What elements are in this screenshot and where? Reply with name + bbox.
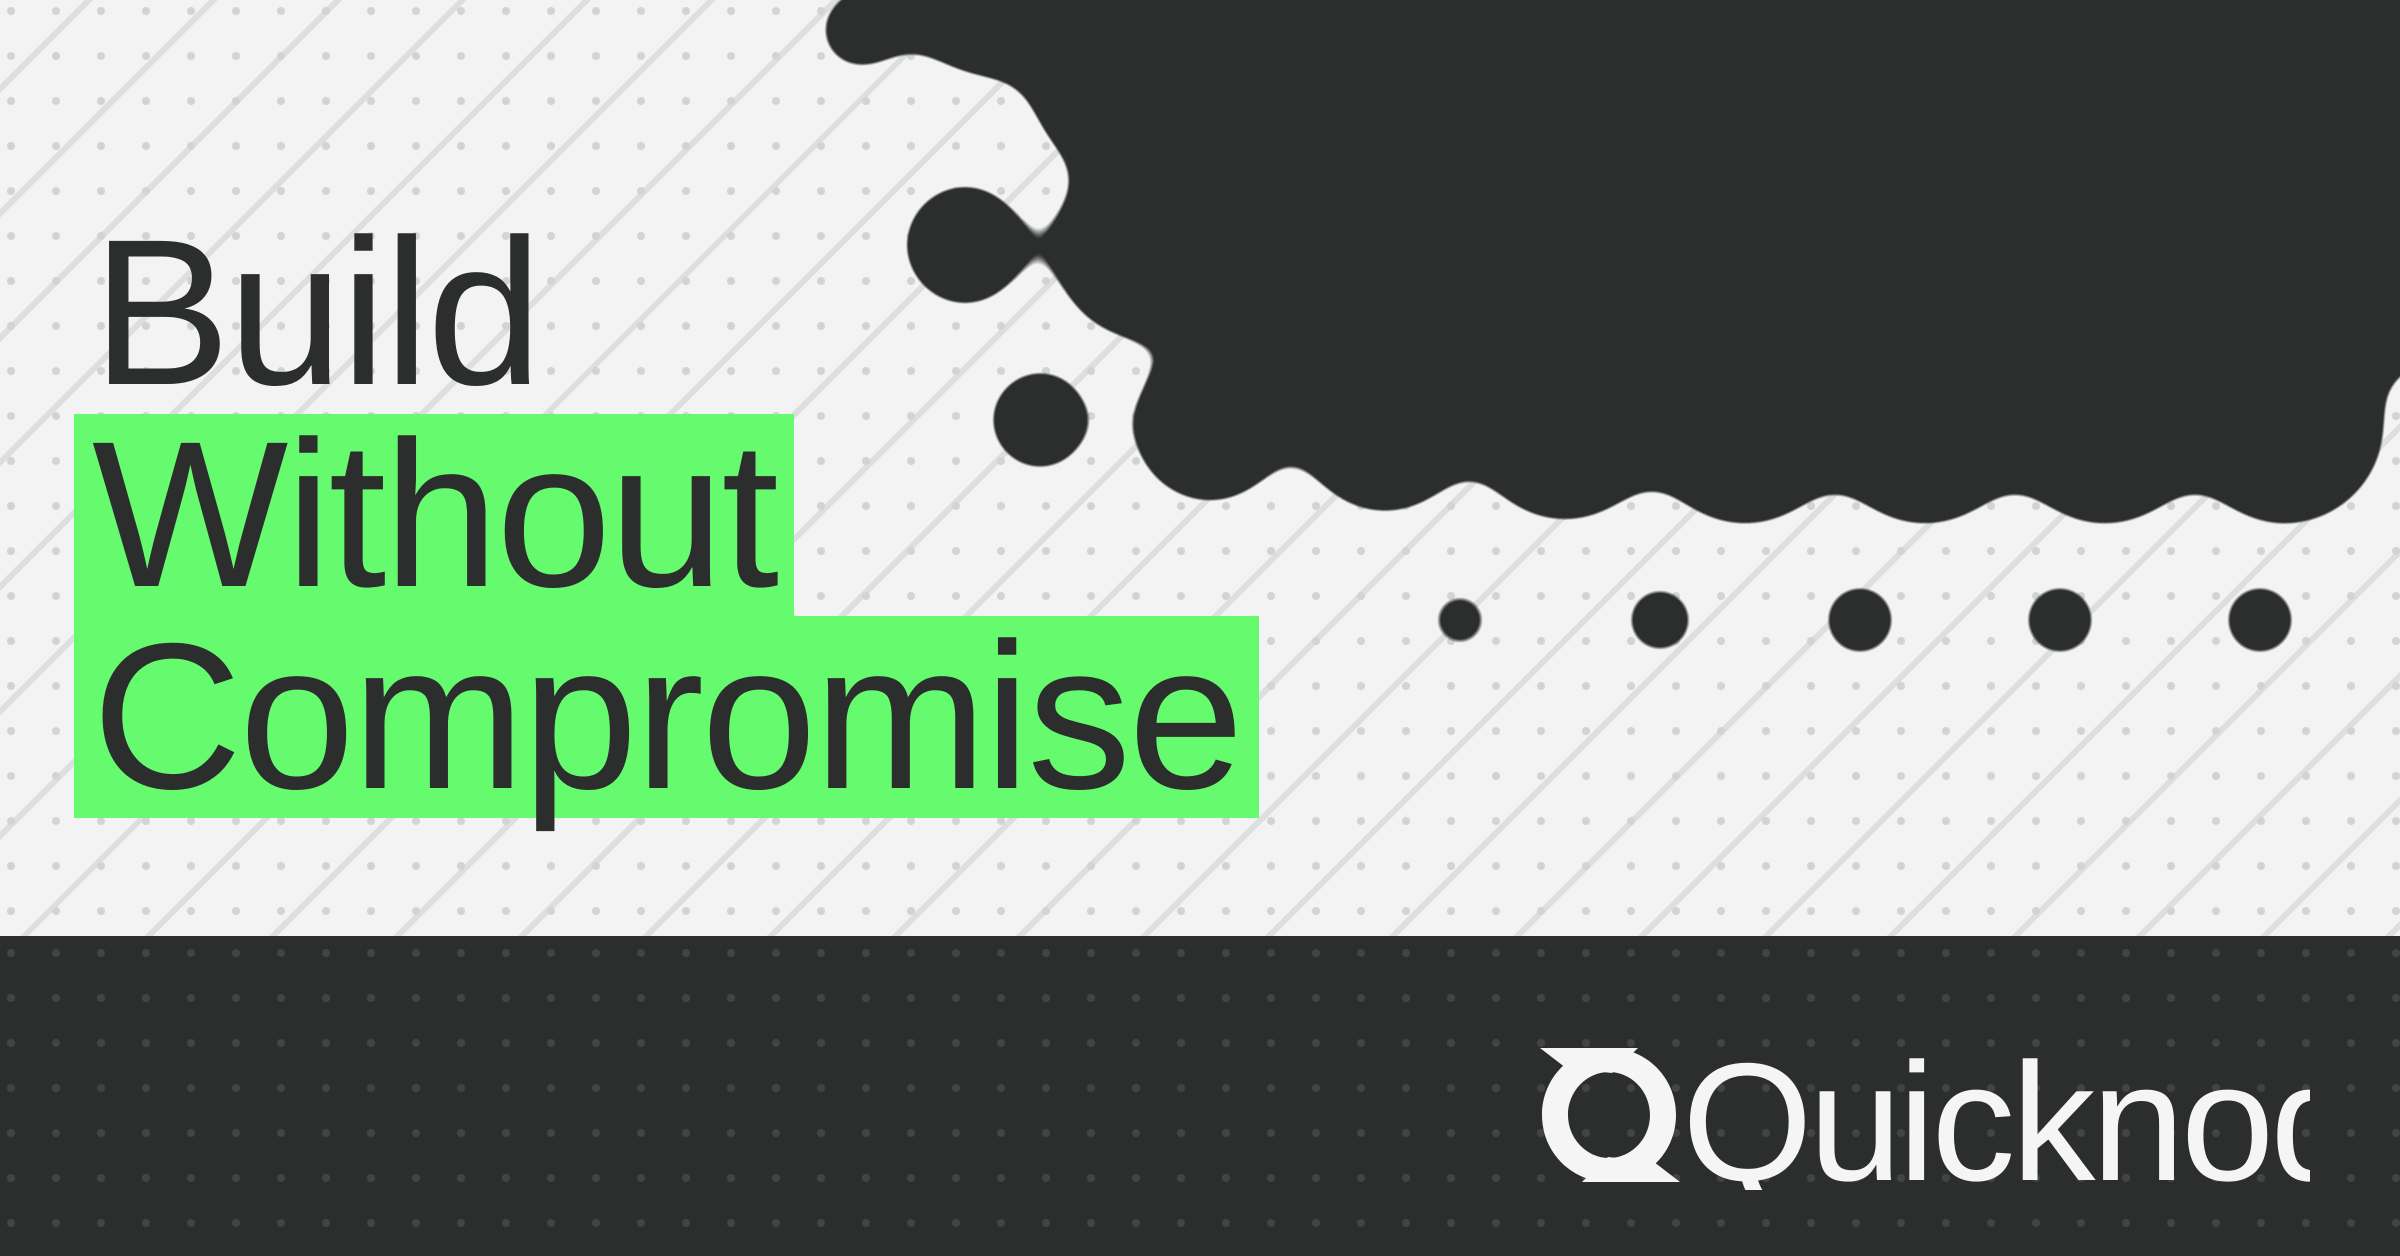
quicknode-logo[interactable]: Quicknode Quicknode <box>1530 1040 2310 1190</box>
headline: Build Without Compromise <box>92 212 1259 818</box>
headline-line-2: Without <box>74 414 794 616</box>
headline-line-1: Build <box>74 212 1259 414</box>
promo-banner: Build Without Compromise Quicknode Quick… <box>0 0 2400 1256</box>
headline-line-3: Compromise <box>74 616 1259 818</box>
quicknode-wordmark: Quicknode <box>1682 1040 2310 1190</box>
quicknode-q-mark <box>1540 1048 1680 1182</box>
footer-bar: Quicknode Quicknode <box>0 936 2400 1256</box>
logo-alt-text: Quicknode <box>1530 1190 1531 1191</box>
